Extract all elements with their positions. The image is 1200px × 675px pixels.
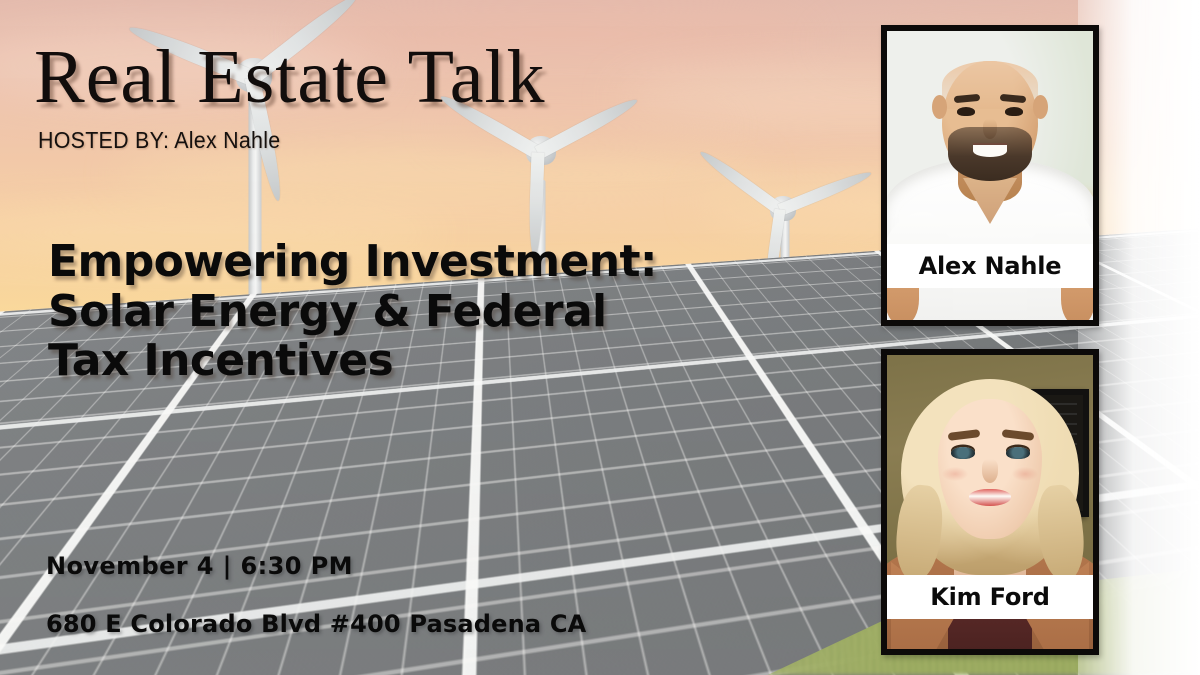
eye-left <box>951 447 975 459</box>
speaker-card-alex-nahle[interactable]: Alex Nahle <box>881 25 1099 326</box>
event-poster: Real Estate Talk HOSTED BY: Alex Nahle E… <box>0 0 1200 675</box>
cheek-left <box>942 467 968 481</box>
eye-right <box>1006 447 1030 459</box>
smile <box>969 489 1011 506</box>
ear-right <box>1033 95 1048 119</box>
speaker-card-kim-ford[interactable]: Kim Ford <box>881 349 1099 655</box>
ear-left <box>932 95 947 119</box>
smile <box>973 145 1007 157</box>
hosted-by-label: HOSTED BY: Alex Nahle <box>38 127 280 154</box>
speaker-name-plate: Kim Ford <box>887 575 1093 619</box>
event-details: November 4 | 6:30 PM 680 E Colorado Blvd… <box>46 552 586 638</box>
event-headline: Empowering Investment: Solar Energy & Fe… <box>48 237 657 386</box>
event-address: 680 E Colorado Blvd #400 Pasadena CA <box>46 610 586 638</box>
event-datetime: November 4 | 6:30 PM <box>46 552 586 580</box>
nose <box>982 459 998 483</box>
eye-left <box>957 107 975 116</box>
speaker-name-plate: Alex Nahle <box>887 244 1093 288</box>
cheek-right <box>1012 467 1038 481</box>
eye-right <box>1005 107 1023 116</box>
page-title: Real Estate Talk <box>34 41 546 113</box>
